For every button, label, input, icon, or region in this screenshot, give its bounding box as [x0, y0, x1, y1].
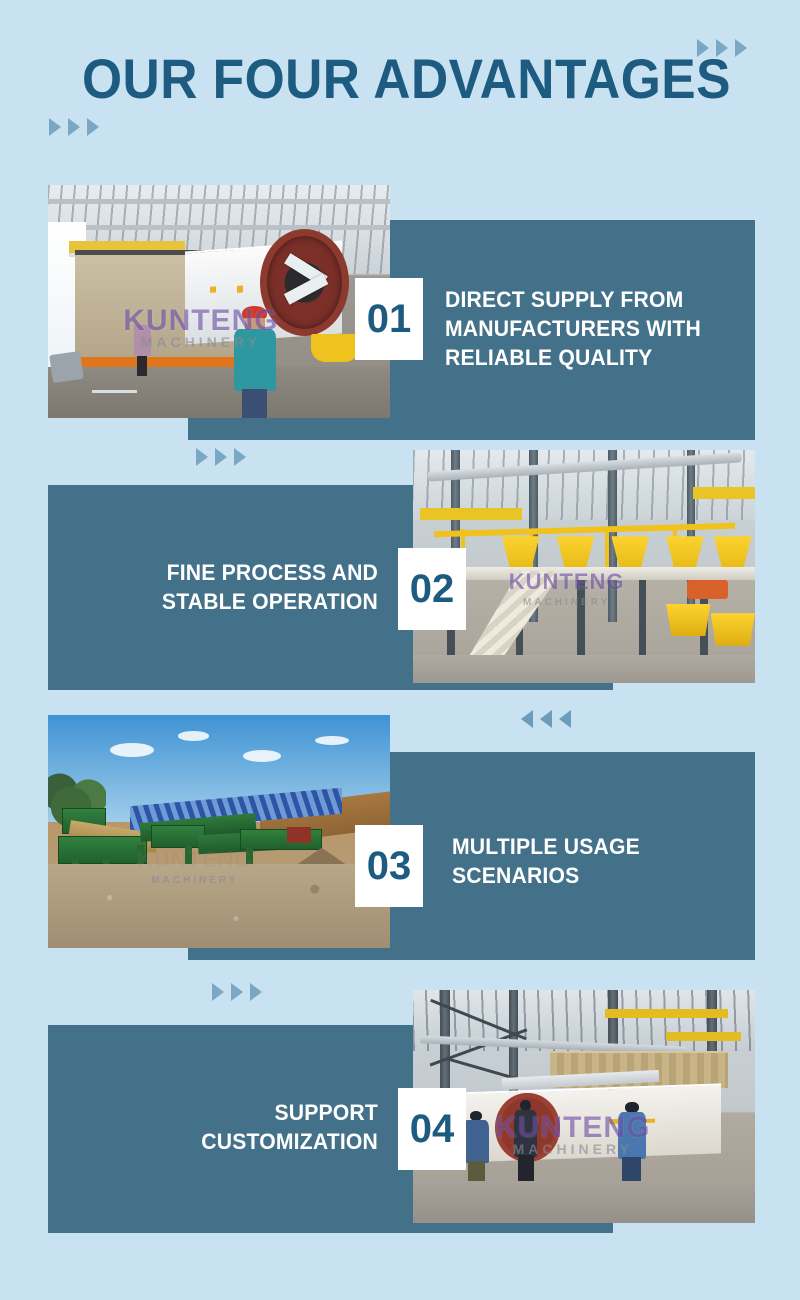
triple-left-arrow-icon	[559, 710, 571, 728]
cloud	[110, 743, 154, 757]
cloud	[178, 731, 209, 740]
triple-right-arrow-icon	[215, 448, 227, 466]
worker-torso	[514, 1110, 537, 1157]
card-01-text: DIRECT SUPPLY FROM MANUFACTURERS WITH RE…	[445, 285, 718, 372]
yellow-hopper	[714, 536, 752, 569]
card-03-photo: KUNTENG MACHINERY	[48, 715, 390, 948]
overhead-crane	[605, 1009, 728, 1018]
card-02-number: 02	[410, 567, 455, 612]
drum-hatch	[210, 286, 216, 293]
separator-arrows-3	[212, 983, 262, 1001]
triple-right-arrow-icon	[196, 448, 208, 466]
card-01-number: 01	[367, 297, 412, 342]
workshop-floor	[413, 655, 755, 683]
support-leg	[577, 580, 585, 664]
separator-arrows-2	[521, 710, 571, 728]
roof-beam	[48, 225, 390, 230]
advantage-card-01[interactable]: KUNTENG MACHINERY 01 DIRECT SUPPLY FROM …	[0, 0, 800, 440]
card-02-text: FINE PROCESS AND STABLE OPERATION	[96, 558, 378, 616]
worker-legs	[242, 389, 267, 418]
card-01-photo: KUNTENG MACHINERY	[48, 185, 390, 418]
triple-right-arrow-icon	[234, 448, 246, 466]
railing-post	[605, 529, 609, 569]
rotary-dryer-body	[454, 1083, 721, 1162]
yellow-hopper	[557, 536, 595, 569]
roof-beam	[48, 199, 390, 204]
yellow-bin	[311, 334, 359, 362]
worker-torso	[618, 1112, 647, 1159]
overhead-crane	[693, 487, 755, 499]
worker-with-red-helmet	[233, 306, 277, 418]
card-04-text: SUPPORT CUSTOMIZATION	[96, 1098, 378, 1156]
steel-pipe	[50, 351, 84, 383]
worker-torso	[134, 325, 151, 356]
card-01-number-badge: 01	[355, 278, 423, 360]
steel-rod	[92, 390, 136, 393]
drum-hatch	[237, 285, 243, 292]
triple-right-arrow-icon	[231, 983, 243, 1001]
card-03-text: MULTIPLE USAGE SCENARIOS	[452, 832, 715, 890]
card-02-number-badge: 02	[398, 548, 466, 630]
triple-right-arrow-icon	[250, 983, 262, 1001]
support-leg	[639, 580, 647, 664]
worker-torso	[234, 329, 277, 392]
triple-left-arrow-icon	[540, 710, 552, 728]
overhead-crane	[666, 1032, 741, 1041]
yellow-bin	[666, 604, 710, 637]
card-04-number: 04	[410, 1107, 455, 1152]
yellow-bin	[711, 613, 755, 646]
site-ground	[48, 864, 390, 948]
yellow-hopper	[611, 536, 649, 569]
orange-equipment	[687, 580, 728, 599]
card-04-number-badge: 04	[398, 1088, 466, 1170]
workshop-floor	[413, 1181, 755, 1223]
worker-torso	[463, 1120, 489, 1163]
card-03-number: 03	[367, 844, 412, 889]
separator-arrows-1	[196, 448, 246, 466]
yellow-hopper	[666, 536, 704, 569]
cloud	[243, 750, 281, 762]
overhead-crane	[420, 508, 523, 520]
access-stairway	[464, 571, 553, 664]
worker-in-pink-shirt	[134, 325, 151, 376]
worker-legs	[137, 356, 147, 377]
triple-left-arrow-icon	[521, 710, 533, 728]
triple-right-arrow-icon	[212, 983, 224, 1001]
red-power-unit	[287, 827, 311, 843]
card-03-number-badge: 03	[355, 825, 423, 907]
